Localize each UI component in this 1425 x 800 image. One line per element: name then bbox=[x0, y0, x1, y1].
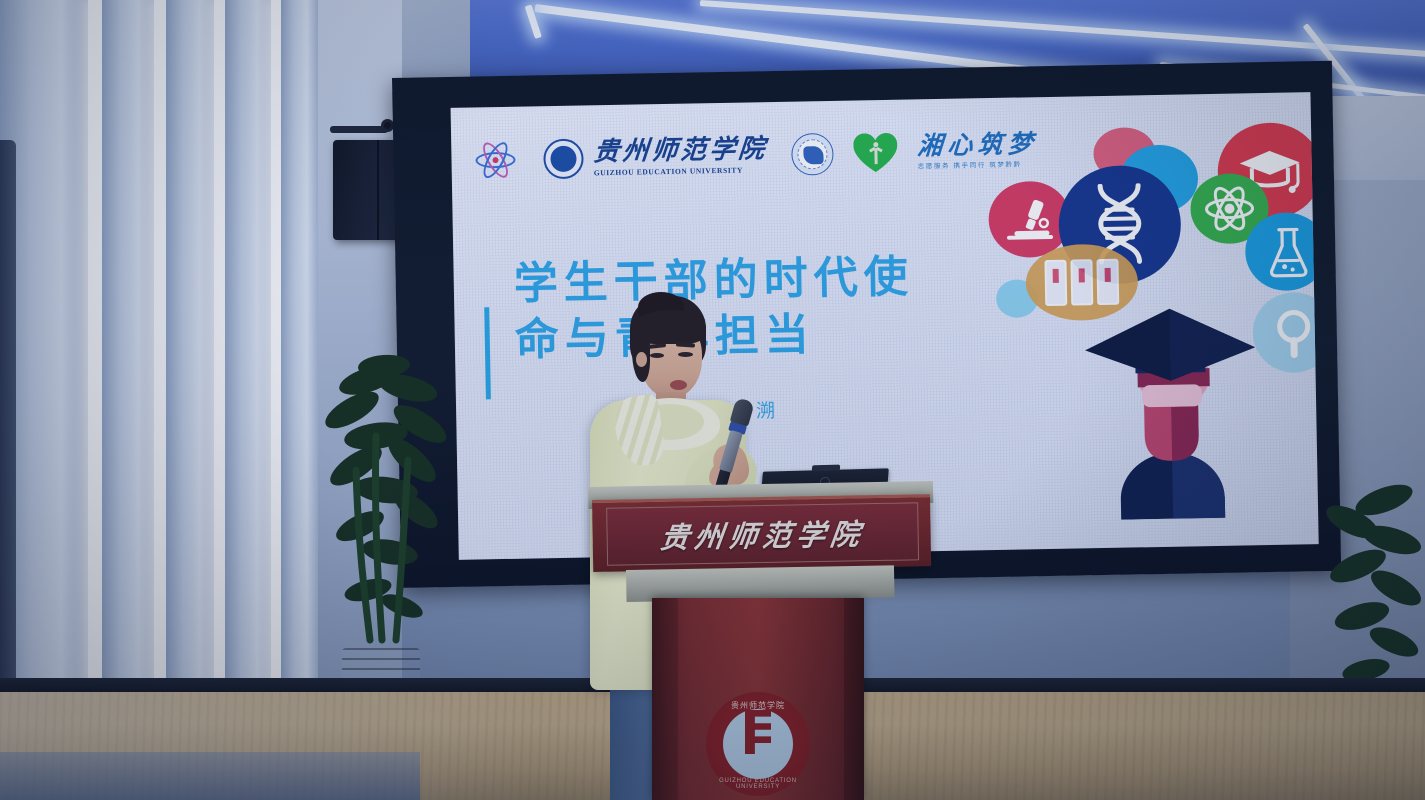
atom-icon bbox=[1204, 185, 1255, 232]
podium-body: 贵州师范学院 GUIZHOU EDUCATION UNIVERSITY bbox=[652, 598, 864, 800]
presenter-mouth bbox=[670, 380, 687, 390]
university-name-cn: 贵州师范学院 bbox=[592, 136, 768, 165]
podium-right-edge bbox=[844, 598, 864, 800]
podium-plaque: 贵州师范学院 bbox=[606, 502, 919, 565]
podium-left-edge bbox=[652, 598, 678, 800]
lecture-hall-scene: 贵州师范学院 GUIZHOU EDUCATION UNIVERSITY 湘心筑梦… bbox=[0, 0, 1425, 800]
graduate-science-illustration bbox=[971, 114, 1309, 535]
graduate-figure-icon bbox=[1083, 255, 1258, 520]
podium-plaque-text: 贵州师范学院 bbox=[658, 511, 867, 557]
speaker-seam bbox=[377, 140, 379, 240]
green-heart-logo bbox=[853, 133, 898, 174]
podium-front-panel: 贵州师范学院 bbox=[592, 494, 931, 572]
university-seal-icon bbox=[543, 139, 584, 180]
university-emblem: 贵州师范学院 GUIZHOU EDUCATION UNIVERSITY bbox=[706, 692, 810, 796]
bubble-flask bbox=[1245, 212, 1319, 291]
flask-icon bbox=[1267, 226, 1310, 279]
emblem-text-en: GUIZHOU EDUCATION UNIVERSITY bbox=[706, 778, 810, 790]
bubble-magnifier bbox=[1252, 292, 1319, 373]
presenter-eye bbox=[678, 352, 693, 357]
round-badge-icon bbox=[791, 133, 834, 176]
microscope-icon bbox=[1002, 197, 1057, 244]
slide-subtitle: 溯 bbox=[756, 396, 779, 423]
floor-blue-reflection bbox=[0, 752, 420, 800]
emblem-inner-disc bbox=[723, 709, 793, 779]
presenter-ear bbox=[636, 352, 647, 367]
presenter-eye bbox=[650, 353, 664, 358]
magnifier-icon bbox=[1272, 308, 1317, 359]
university-wordmark: 贵州师范学院 GUIZHOU EDUCATION UNIVERSITY bbox=[593, 136, 768, 177]
speaker-mount-arm bbox=[330, 126, 388, 133]
atom-icon bbox=[473, 140, 518, 181]
university-name-en: GUIZHOU EDUCATION UNIVERSITY bbox=[594, 166, 768, 177]
title-accent-bar bbox=[484, 307, 491, 399]
podium-apron bbox=[626, 565, 895, 602]
